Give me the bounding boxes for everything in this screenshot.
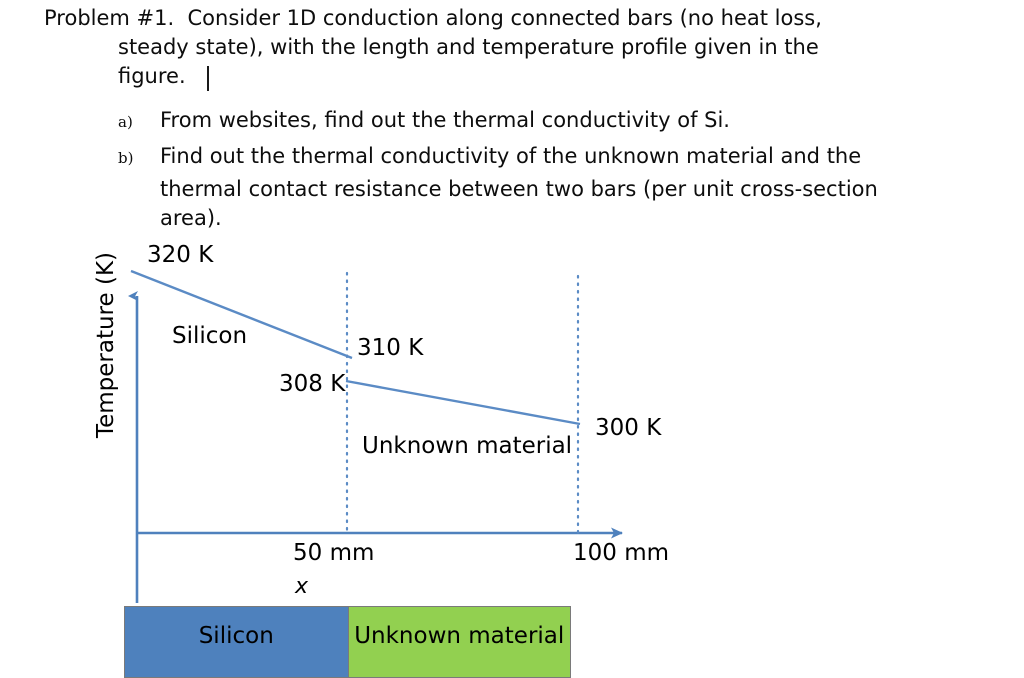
temperature-label-310k: 310 K [357, 334, 423, 362]
list-item-b-line-3: area). [160, 204, 222, 233]
x-tick-label-50mm: 50 mm [293, 539, 374, 567]
x-tick-label-100mm: 100 mm [573, 539, 669, 567]
problem-line-1: Problem #1. Consider 1D conduction along… [44, 4, 822, 33]
profile-line-silicon [131, 271, 352, 358]
profile-line-unknown [346, 381, 580, 424]
list-marker-a: a) [118, 112, 133, 132]
list-item-b-line-1: Find out the thermal conductivity of the… [160, 142, 861, 171]
material-bar-unknown-label: Unknown material [354, 621, 564, 651]
material-bar-silicon-label: Silicon [199, 621, 274, 651]
temperature-label-300k: 300 K [595, 414, 661, 442]
temperature-label-308k: 308 K [279, 370, 345, 398]
temperature-label-320k: 320 K [147, 241, 213, 269]
material-bar-silicon: Silicon [125, 607, 349, 677]
y-axis-label: Temperature (K) [93, 225, 119, 465]
x-axis-label: x [295, 573, 308, 601]
material-bar-diagram: Silicon Unknown material [124, 606, 571, 678]
problem-line-2: steady state), with the length and tempe… [118, 33, 819, 62]
region-label-silicon: Silicon [172, 322, 247, 350]
list-item-b-line-2: thermal contact resistance between two b… [160, 175, 878, 204]
list-item-a-text: From websites, find out the thermal cond… [160, 106, 730, 135]
material-bar-unknown: Unknown material [349, 607, 571, 677]
region-label-unknown-material: Unknown material [362, 432, 572, 460]
text-cursor-caret [207, 66, 209, 91]
list-marker-b: b) [118, 148, 133, 168]
problem-line-3: figure. [118, 62, 186, 91]
temperature-profile-figure: Temperature (K) 320 K Silicon 310 K 308 … [0, 0, 1024, 678]
